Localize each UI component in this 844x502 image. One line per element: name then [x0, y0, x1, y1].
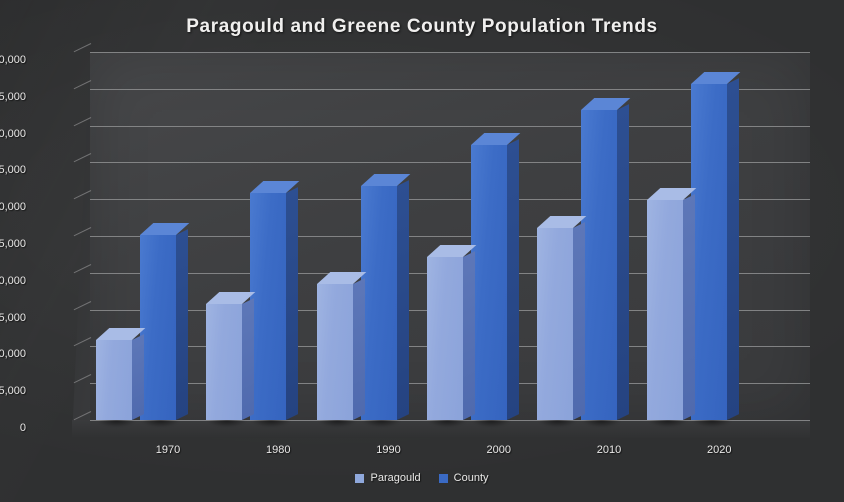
bar-front-face	[471, 145, 507, 420]
plot-area: 05,00010,00015,00020,00025,00030,00035,0…	[72, 52, 810, 438]
bar-front-face	[581, 110, 617, 420]
legend-label: Paragould	[370, 472, 420, 484]
y-axis-label: 35,000	[0, 164, 26, 176]
y-axis-label: 45,000	[0, 91, 26, 103]
chart-title: Paragould and Greene County Population T…	[0, 16, 844, 38]
bar-front-face	[361, 186, 397, 420]
legend-swatch-icon	[439, 474, 448, 483]
bar-front-face	[691, 84, 727, 420]
bar-side-face	[683, 194, 695, 420]
y-axis-label: 30,000	[0, 201, 26, 213]
y-axis-label: 20,000	[0, 275, 26, 287]
x-axis-label-1990: 1990	[349, 444, 429, 456]
legend-label: County	[454, 472, 489, 484]
y-axis-label: 50,000	[0, 54, 26, 66]
bar-side-face	[463, 251, 475, 420]
x-axis-label-1970: 1970	[128, 444, 208, 456]
legend-item-paragould[interactable]: Paragould	[355, 472, 420, 484]
legend-item-county[interactable]: County	[439, 472, 489, 484]
bar-side-face	[573, 222, 585, 420]
bar-front-face	[647, 200, 683, 420]
bar-county-1990[interactable]	[361, 186, 397, 420]
bar-front-face	[317, 284, 353, 420]
x-axis-label-1980: 1980	[238, 444, 318, 456]
bar-front-face	[537, 228, 573, 420]
bar-paragould-1970[interactable]	[96, 340, 132, 420]
bar-county-2020[interactable]	[691, 84, 727, 420]
y-axis-label: 40,000	[0, 128, 26, 140]
chart-legend: ParagouldCounty	[0, 472, 844, 484]
y-axis-label: 25,000	[0, 238, 26, 250]
bar-side-face	[132, 334, 144, 420]
bar-front-face	[206, 304, 242, 420]
bar-county-1980[interactable]	[250, 193, 286, 420]
x-axis-label-2020: 2020	[679, 444, 759, 456]
y-axis-label: 5,000	[0, 385, 26, 397]
bar-county-2000[interactable]	[471, 145, 507, 420]
y-axis-label: 15,000	[0, 312, 26, 324]
x-axis-label-2010: 2010	[569, 444, 649, 456]
bar-paragould-2020[interactable]	[647, 200, 683, 420]
gridline	[90, 52, 810, 53]
bar-county-2010[interactable]	[581, 110, 617, 420]
legend-swatch-icon	[355, 474, 364, 483]
x-axis-label-2000: 2000	[459, 444, 539, 456]
bar-side-face	[353, 278, 365, 420]
bar-paragould-2010[interactable]	[537, 228, 573, 420]
bar-side-face	[242, 298, 254, 420]
bar-side-face	[617, 104, 629, 420]
plot-side-wall	[72, 52, 90, 438]
bar-side-face	[397, 180, 409, 420]
bar-side-face	[176, 229, 188, 420]
bar-side-face	[727, 78, 739, 420]
y-axis-label: 0	[0, 422, 26, 434]
bar-side-face	[286, 187, 298, 420]
bar-front-face	[427, 257, 463, 420]
y-axis-label: 10,000	[0, 348, 26, 360]
bar-paragould-2000[interactable]	[427, 257, 463, 420]
bar-paragould-1990[interactable]	[317, 284, 353, 420]
gridline-depth-riser	[74, 43, 92, 52]
bar-front-face	[250, 193, 286, 420]
bar-front-face	[96, 340, 132, 420]
bar-side-face	[507, 140, 519, 420]
bar-paragould-1980[interactable]	[206, 304, 242, 420]
